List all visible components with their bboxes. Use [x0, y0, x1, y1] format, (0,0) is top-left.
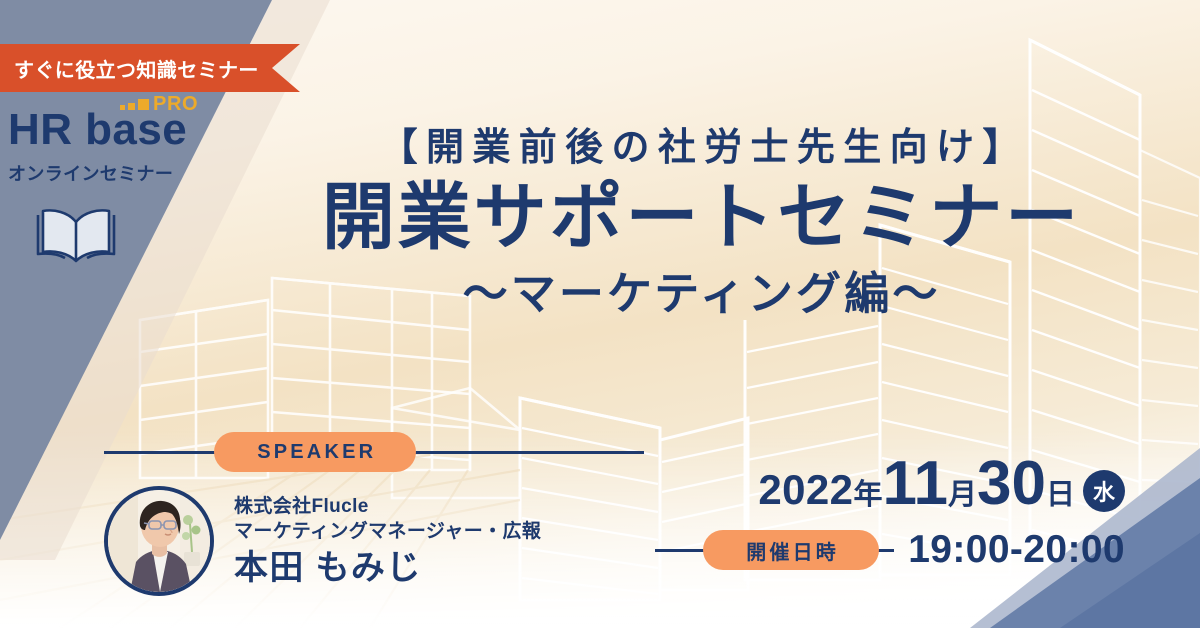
schedule-time: 19:00-20:00 [908, 528, 1125, 572]
open-book-icon [34, 204, 228, 271]
speaker-avatar [104, 486, 214, 596]
headline-kicker: 【開業前後の社労士先生向け】 [250, 126, 1150, 171]
schedule-month-unit: 月 [948, 471, 977, 513]
schedule-label-pill: 開催日時 [703, 530, 879, 570]
speaker-name: 本田 もみじ [234, 548, 541, 589]
speaker-block: SPEAKER [104, 432, 644, 596]
brand-pro-label: PRO [153, 94, 198, 114]
speaker-info: 株式会社Flucle マーケティングマネージャー・広報 本田 もみじ [234, 486, 541, 589]
schedule-year: 2022 [758, 466, 853, 514]
seminar-banner: すぐに役立つ知識セミナー HR base PRO オンラインセミナー [0, 0, 1200, 628]
schedule-block: 2022 年 11 月 30 日 水 開催日時 19:00-20:00 [655, 455, 1125, 570]
schedule-label-rule: 開催日時 [655, 530, 894, 570]
schedule-year-unit: 年 [853, 471, 882, 513]
category-ribbon-label: すぐに役立つ知識セミナー [14, 54, 259, 83]
speaker-company: 株式会社Flucle [234, 494, 541, 519]
speaker-row: 株式会社Flucle マーケティングマネージャー・広報 本田 もみじ [104, 486, 644, 596]
pro-squares-icon [120, 99, 149, 114]
brand-pro-badge: PRO [120, 94, 198, 114]
speaker-label-text: SPEAKER [240, 441, 390, 464]
schedule-label-text: 開催日時 [729, 536, 853, 565]
headline-subtitle: 〜マーケティング編〜 [250, 267, 1150, 321]
schedule-time-row: 開催日時 19:00-20:00 [655, 530, 1125, 570]
schedule-month: 11 [882, 455, 948, 514]
headline-block: 【開業前後の社労士先生向け】 開業サポートセミナー 〜マーケティング編〜 [250, 126, 1150, 321]
headline-title: 開業サポートセミナー [250, 175, 1150, 261]
speaker-role: マーケティングマネージャー・広報 [234, 519, 541, 544]
brand-logo: HR base PRO [8, 104, 228, 156]
speaker-label-rule: SPEAKER [104, 432, 644, 472]
schedule-weekday-badge: 水 [1083, 470, 1125, 512]
schedule-day: 30 [977, 455, 1046, 514]
brand-subtitle: オンラインセミナー [8, 160, 228, 186]
category-ribbon: すぐに役立つ知識セミナー [0, 44, 300, 92]
brand-block: HR base PRO オンラインセミナー [8, 104, 228, 271]
speaker-label-pill: SPEAKER [214, 432, 416, 472]
schedule-day-unit: 日 [1046, 471, 1075, 513]
schedule-date-line: 2022 年 11 月 30 日 水 [655, 455, 1125, 516]
